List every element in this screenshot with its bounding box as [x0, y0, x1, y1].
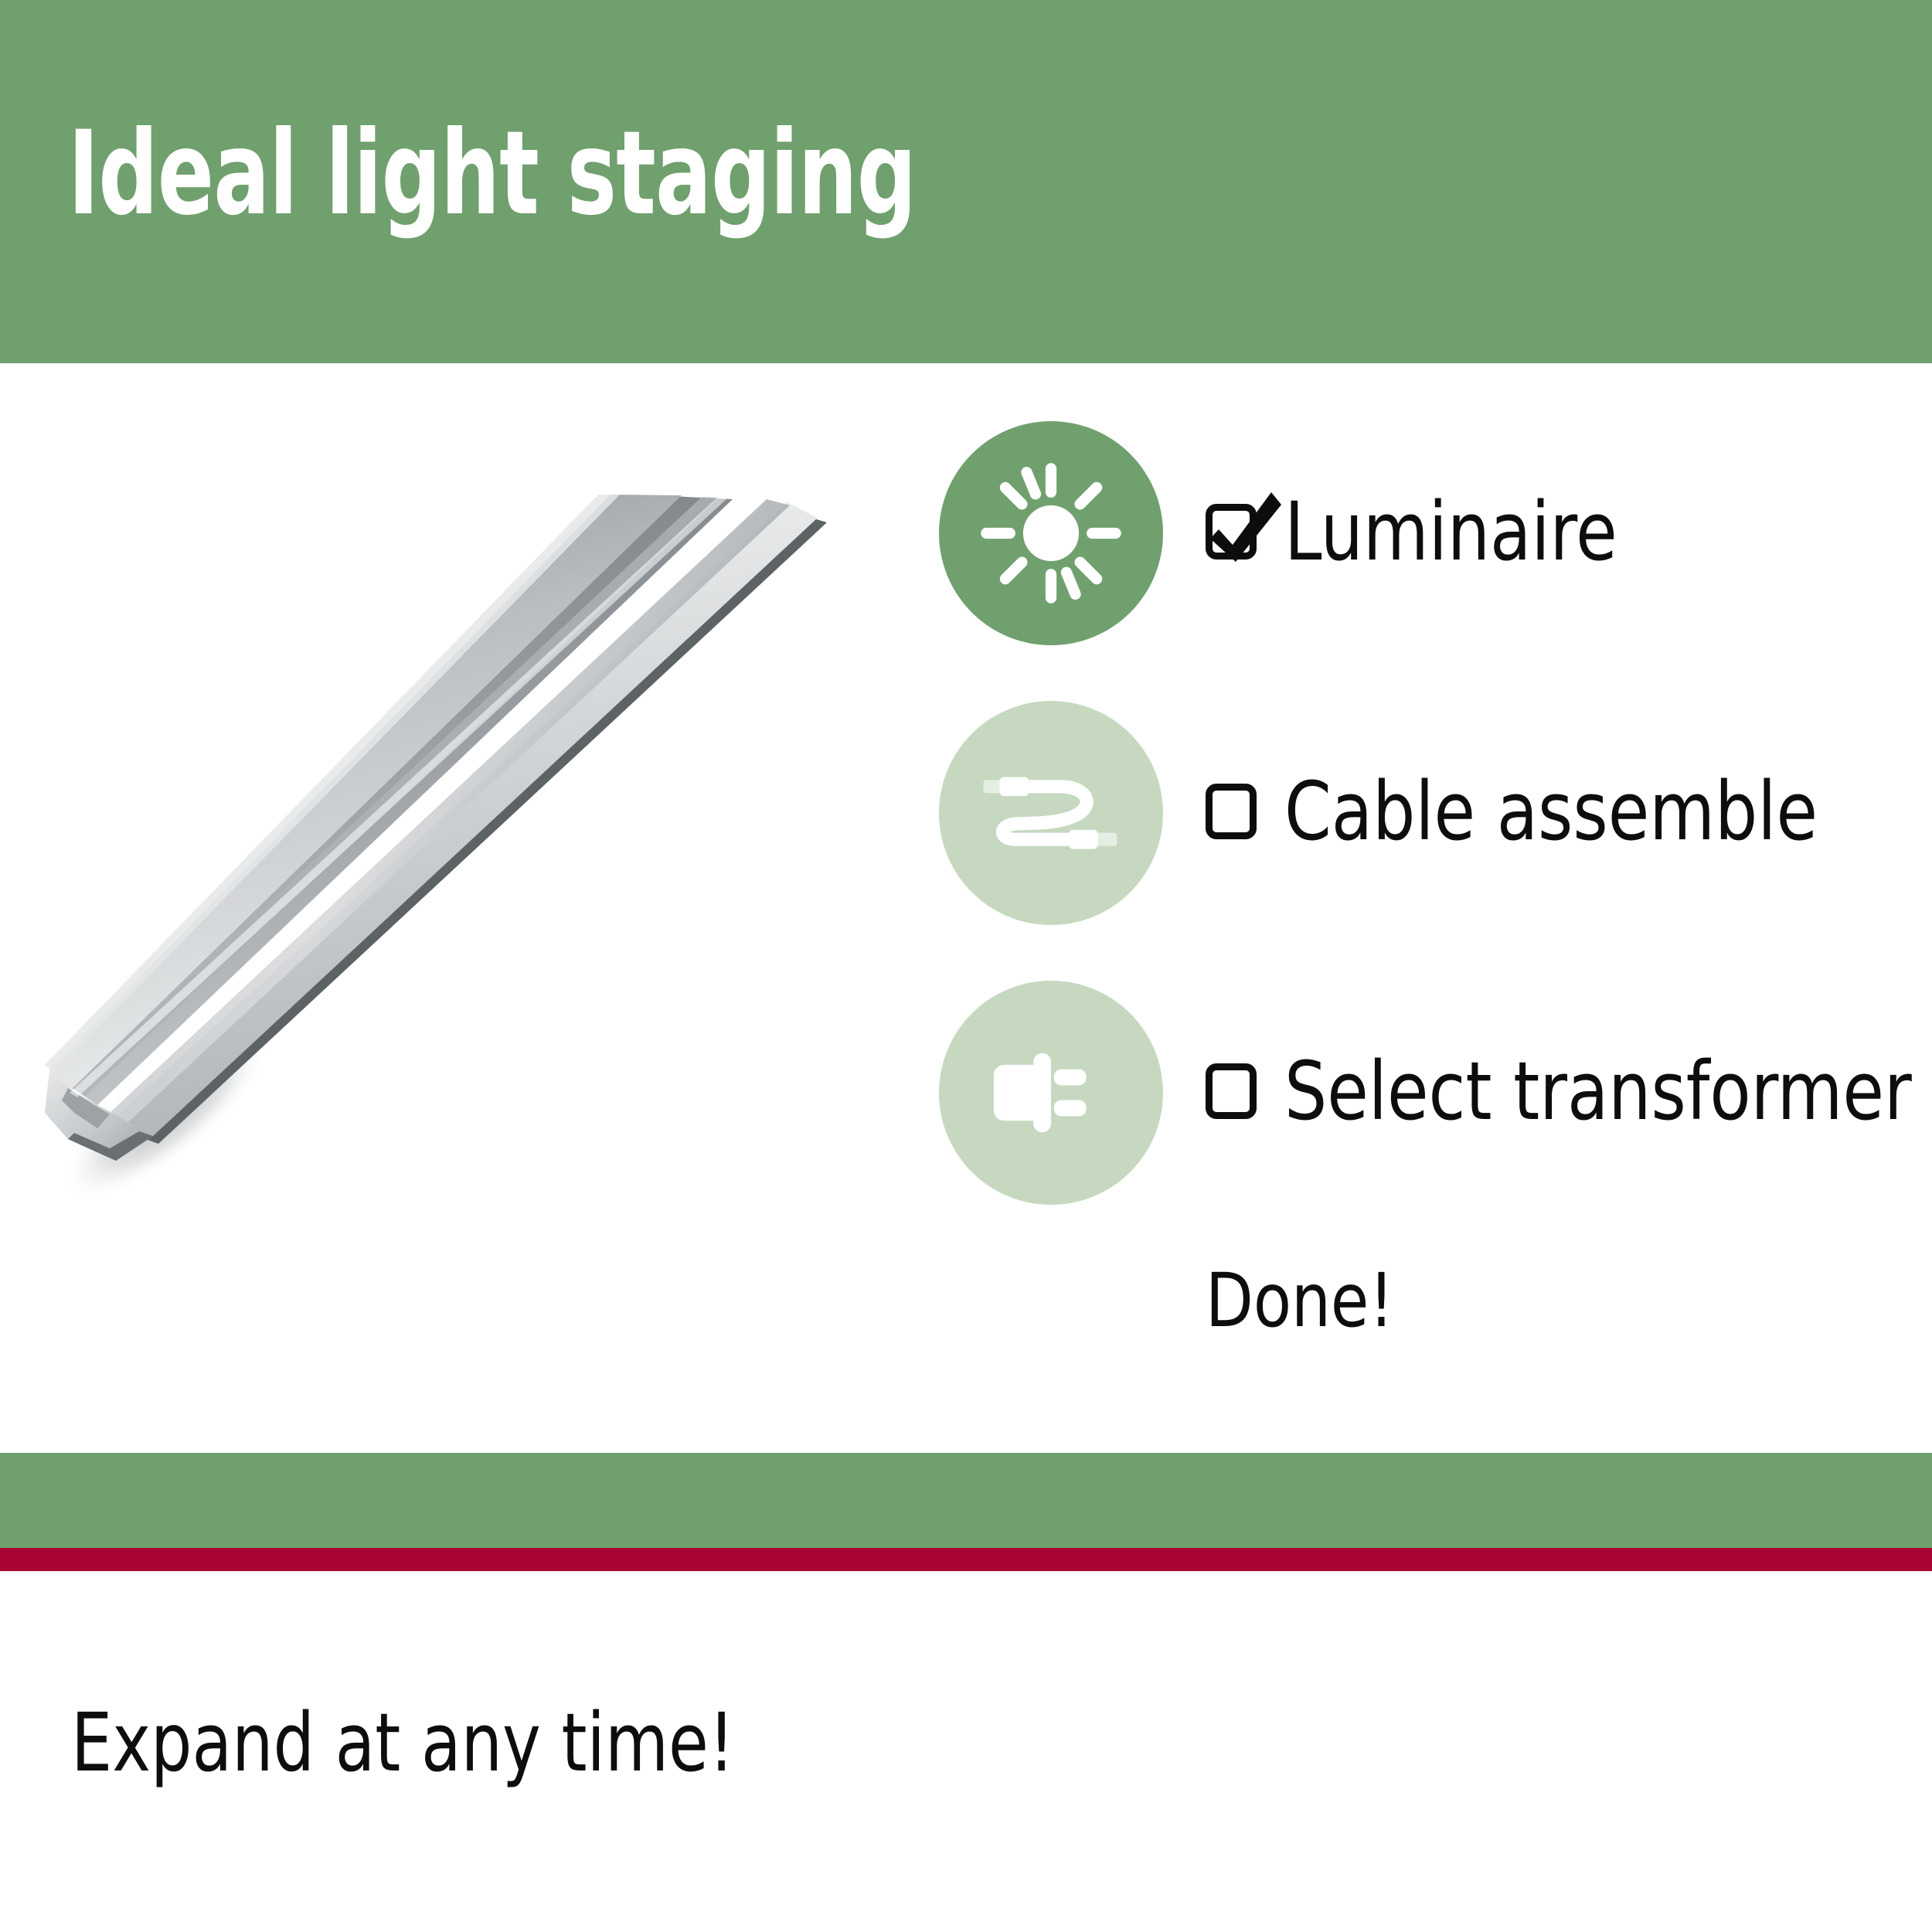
- footer-area: Expand at any time!: [0, 1571, 1932, 1932]
- checklist-label-cable-assemble: Cable assemble: [1284, 771, 1818, 852]
- sun-icon: [939, 421, 1163, 645]
- checkbox-select-transformer[interactable]: [1206, 1063, 1257, 1119]
- footer-text: Expand at any time!: [71, 1702, 735, 1783]
- checklist-label-select-transformer: Select transformer: [1284, 1051, 1912, 1131]
- plug-icon: [939, 981, 1163, 1205]
- cable-icon: [939, 701, 1163, 925]
- done-text: Done!: [1206, 1264, 1394, 1338]
- page-title: Ideal light staging: [68, 116, 916, 232]
- checkbox-target-cable-assemble[interactable]: Cable assemble: [1206, 761, 1858, 862]
- checkbox-target-luminaire[interactable]: Luminaire: [1206, 481, 1642, 582]
- checklist-item-luminaire[interactable]: Luminaire: [939, 421, 1913, 649]
- crimson-divider-bar: [0, 1548, 1932, 1571]
- product-image-aluminium-profile: [23, 495, 920, 1391]
- checklist: Luminaire Cable assemble: [939, 421, 1913, 1260]
- checkbox-target-select-transformer[interactable]: Select transformer: [1206, 1041, 1932, 1141]
- checklist-label-luminaire: Luminaire: [1284, 492, 1617, 572]
- checkbox-cable-assemble[interactable]: [1206, 784, 1257, 839]
- checklist-item-cable-assemble[interactable]: Cable assemble: [939, 701, 1913, 929]
- checkbox-luminaire[interactable]: [1206, 504, 1257, 560]
- green-divider-bar: [0, 1453, 1932, 1548]
- main-content-area: Luminaire Cable assemble: [0, 363, 1932, 1453]
- header-band: Ideal light staging: [0, 0, 1932, 363]
- check-mark-icon: [1202, 485, 1287, 570]
- checklist-item-select-transformer[interactable]: Select transformer: [939, 981, 1913, 1209]
